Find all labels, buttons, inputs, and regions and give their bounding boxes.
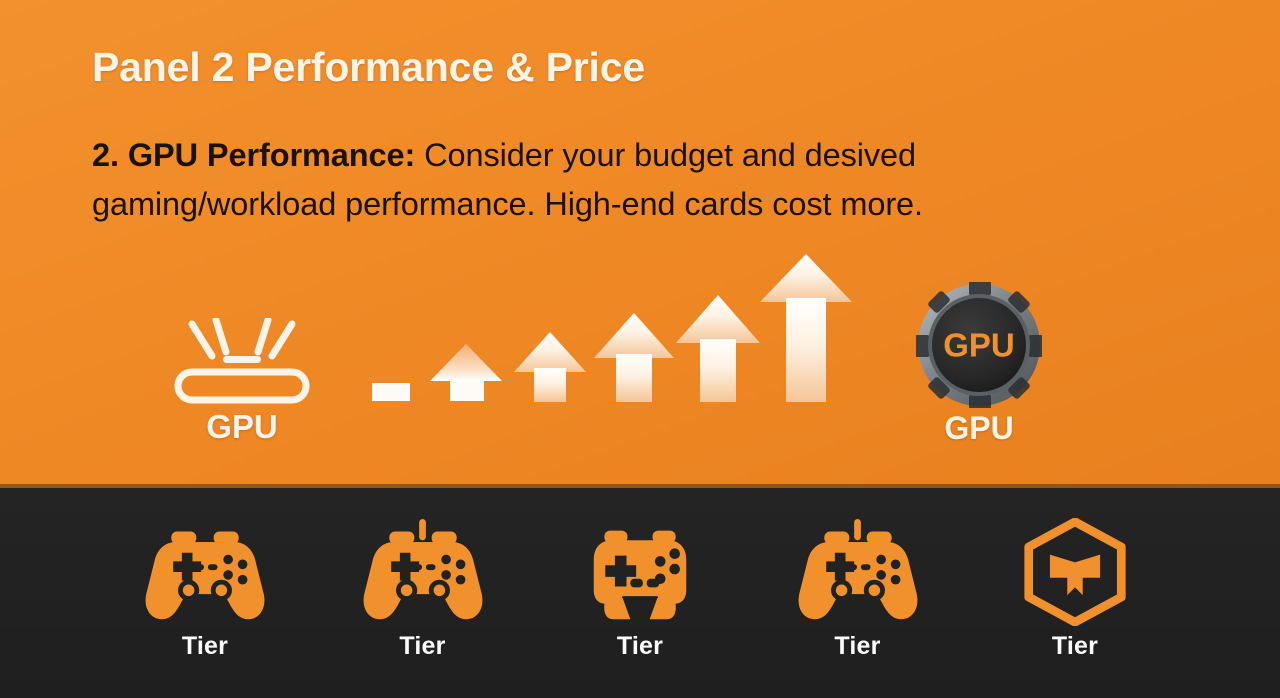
gamepad-icon [142,518,268,626]
arrow-step-5 [676,295,760,402]
hexagon-emblem-icon [1021,518,1129,626]
page-title: Panel 2 Performance & Price [92,44,645,91]
body-paragraph: 2. GPU Performance: Consider your budget… [92,131,1152,229]
gpu-chip-badge: GPU [916,282,1042,408]
arrow-step-6 [760,254,852,402]
gpu-chip-label: GPU [914,410,1044,447]
tier-item[interactable]: Tier [783,518,933,661]
arrow-step-4 [594,313,674,402]
performance-arrow-chart [362,250,862,405]
tier-row: Tier [130,518,1150,683]
arrow-step-2 [430,344,502,401]
tier-label: Tier [182,632,228,661]
gamepad-compact-icon [577,518,703,626]
arrow-step-1 [372,383,410,401]
gpu-card-icon [168,318,316,420]
tier-item[interactable]: Tier [130,518,280,661]
gpu-chip-text: GPU [943,327,1015,364]
gpu-card-label: GPU [168,408,316,446]
tier-item[interactable]: Tier [348,518,498,661]
gamepad-analog-icon [795,518,921,626]
gamepad-analog-icon [360,518,486,626]
body-lead-label: 2. GPU Performance: [92,137,415,173]
tier-label: Tier [399,632,445,661]
tier-label: Tier [1052,632,1098,661]
tier-item[interactable]: Tier [1000,518,1150,661]
tier-label: Tier [834,632,880,661]
tier-label: Tier [617,632,663,661]
arrow-step-3 [514,332,586,402]
slide-canvas: Panel 2 Performance & Price 2. GPU Perfo… [0,0,1280,698]
tier-item[interactable]: Tier [565,518,715,661]
